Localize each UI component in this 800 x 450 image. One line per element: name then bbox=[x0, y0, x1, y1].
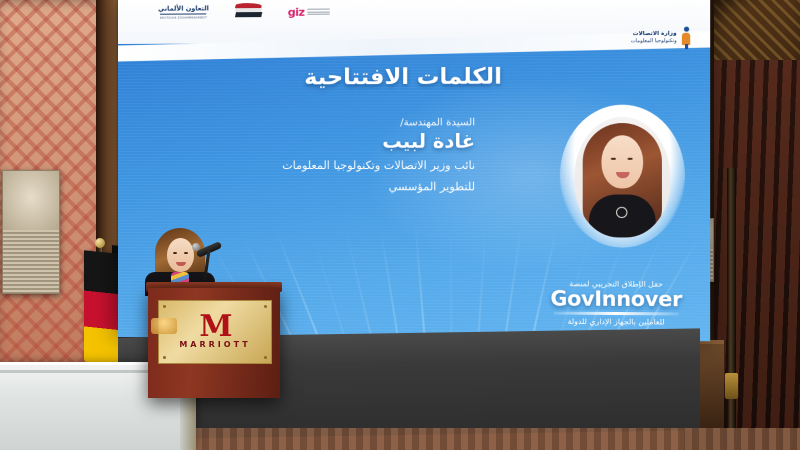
speaker-role-line-1: نائب وزير الاتصالات وتكنولوجيا المعلومات bbox=[212, 158, 475, 174]
giz-logo: giz bbox=[288, 5, 330, 18]
slide-title: الكلمات الافتتاحية bbox=[304, 64, 502, 90]
ministry-logo: وزارة الاتصالات وتكنولوجيا المعلومات bbox=[631, 27, 692, 50]
german-flag-icon bbox=[84, 250, 118, 366]
platform-name: GovInnover bbox=[543, 288, 689, 310]
ministry-line-2: وتكنولوجيا المعلومات bbox=[631, 38, 677, 45]
speaker-role-line-2: للتطوير المؤسسي bbox=[212, 179, 475, 195]
slide-ray bbox=[504, 224, 522, 340]
speaker-podium: M MARRIOTT bbox=[148, 288, 280, 398]
ministry-figure-icon bbox=[681, 27, 691, 50]
decorative-pole bbox=[727, 168, 736, 443]
slide-ray bbox=[450, 223, 452, 340]
air-conditioner-icon bbox=[2, 170, 60, 294]
microphone-capsule-icon bbox=[192, 243, 200, 251]
slide-ray bbox=[477, 223, 486, 340]
speaker-portrait-avatar bbox=[560, 104, 685, 247]
slide-ray bbox=[414, 223, 425, 339]
speaker-info-block: السيدة المهندسة/ غادة لبيب نائب وزير الا… bbox=[212, 117, 475, 195]
podium-lamp-glow bbox=[151, 318, 177, 334]
giz-wordmark: giz bbox=[288, 5, 305, 18]
speaker-name: غادة لبيب bbox=[212, 130, 475, 153]
marriott-monogram: M bbox=[199, 315, 230, 338]
flag-finial bbox=[95, 238, 105, 248]
conference-photo-scene: التعاون الألماني DEUTSCHE ZUSAMMENARBEIT… bbox=[0, 0, 800, 450]
brand-rule bbox=[554, 312, 679, 316]
partner-logos: التعاون الألماني DEUTSCHE ZUSAMMENARBEIT… bbox=[158, 0, 330, 23]
slide-ray bbox=[379, 224, 399, 339]
event-branding: حفل الإطلاق التجريبي لمنصة GovInnover لل… bbox=[543, 279, 689, 327]
floor-carpet bbox=[118, 428, 800, 450]
german-cooperation-ar: التعاون الألماني bbox=[158, 6, 209, 13]
egypt-emblem-icon bbox=[235, 1, 261, 23]
german-cooperation-logo: التعاون الألماني DEUTSCHE ZUSAMMENARBEIT bbox=[158, 6, 209, 20]
german-cooperation-en: DEUTSCHE ZUSAMMENARBEIT bbox=[160, 16, 207, 19]
speaker-honorific: السيدة المهندسة/ bbox=[212, 117, 475, 129]
marriott-wordmark: MARRIOTT bbox=[179, 340, 250, 349]
slide-ray bbox=[344, 225, 372, 339]
slide-ray bbox=[309, 227, 345, 338]
event-audience: للعاملين بالجهاز الإداري للدولة bbox=[543, 317, 689, 327]
